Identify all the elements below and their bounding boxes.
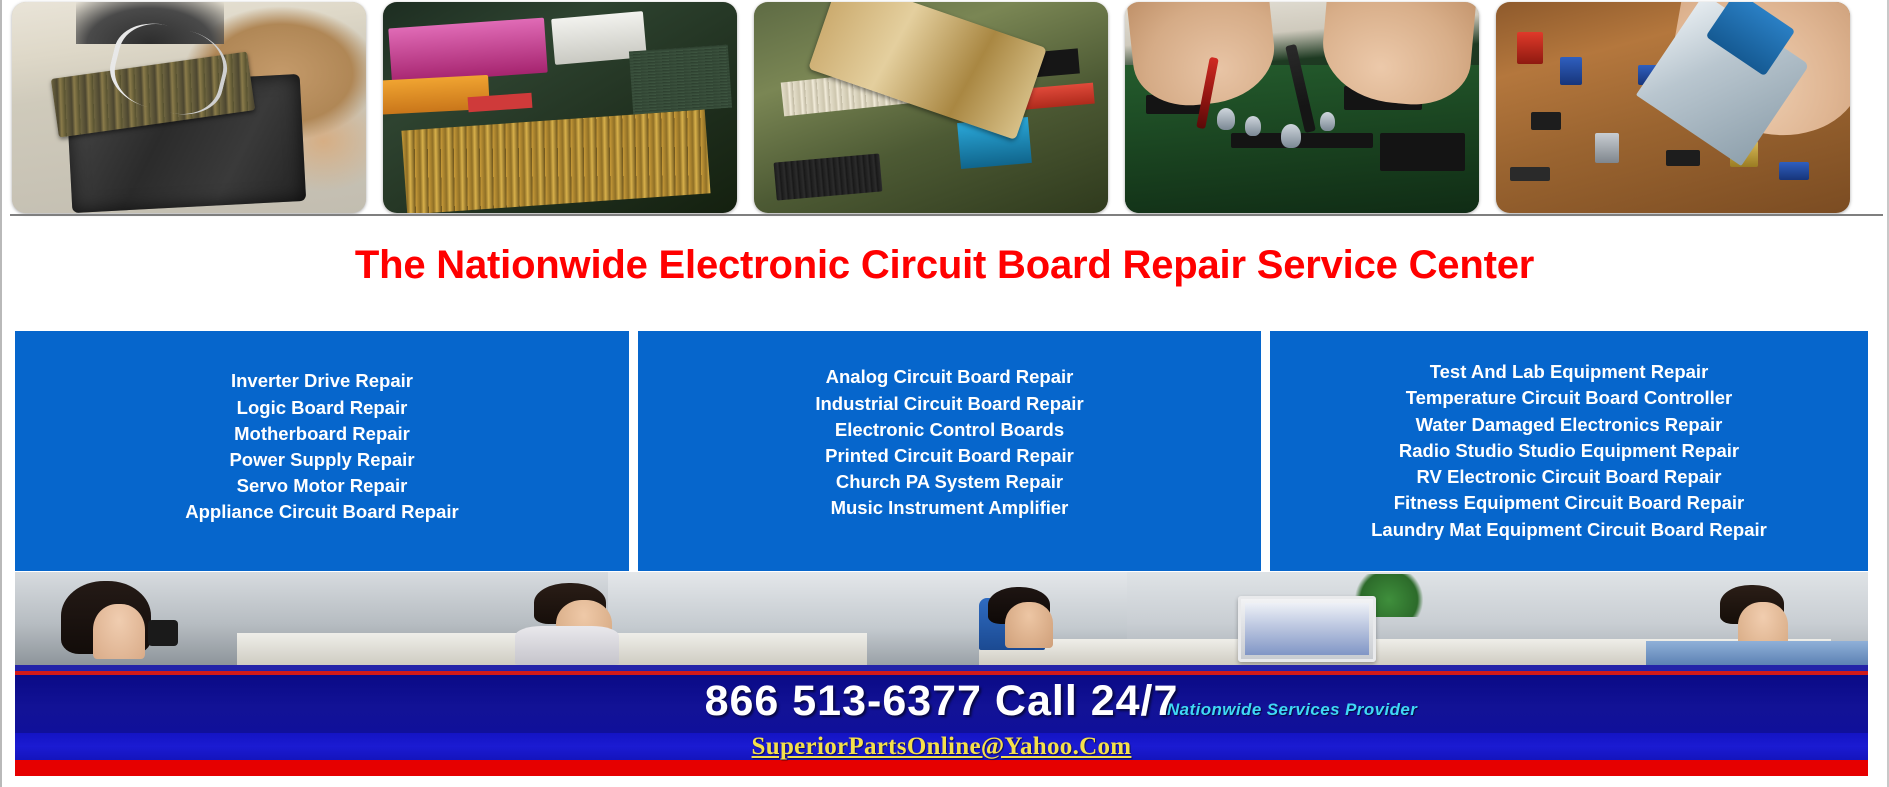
service-item[interactable]: Fitness Equipment Circuit Board Repair <box>1276 490 1862 516</box>
service-item[interactable]: Appliance Circuit Board Repair <box>21 499 623 525</box>
services-panels: Inverter Drive Repair Logic Board Repair… <box>15 331 1868 571</box>
tagline: Nationwide Services Provider <box>1167 700 1417 720</box>
customer-service-office-photo <box>15 572 1868 665</box>
services-column-1: Inverter Drive Repair Logic Board Repair… <box>15 331 629 571</box>
services-column-3: Test And Lab Equipment Repair Temperatur… <box>1270 331 1868 571</box>
banner-bottom-red-bar <box>15 760 1868 776</box>
service-item[interactable]: Inverter Drive Repair <box>21 368 623 394</box>
service-item[interactable]: Radio Studio Studio Equipment Repair <box>1276 438 1862 464</box>
page-title: The Nationwide Electronic Circuit Board … <box>2 243 1887 288</box>
photo-strip <box>2 2 1889 217</box>
multimeter-probes-photo <box>1125 2 1479 213</box>
service-item[interactable]: Test And Lab Equipment Repair <box>1276 359 1862 385</box>
service-item[interactable]: Industrial Circuit Board Repair <box>644 391 1255 417</box>
service-item[interactable]: RV Electronic Circuit Board Repair <box>1276 464 1862 490</box>
service-item[interactable]: Temperature Circuit Board Controller <box>1276 385 1862 411</box>
motherboard-slots-photo <box>383 2 737 213</box>
services-column-2: Analog Circuit Board Repair Industrial C… <box>638 331 1261 571</box>
service-item[interactable]: Music Instrument Amplifier <box>644 495 1255 521</box>
pliers-components-photo <box>1496 2 1850 213</box>
phone-number[interactable]: 866 513-6377 Call 24/7 <box>15 677 1868 726</box>
contact-banner: 866 513-6377 Call 24/7 Nationwide Servic… <box>15 665 1868 776</box>
service-item[interactable]: Laundry Mat Equipment Circuit Board Repa… <box>1276 517 1862 543</box>
service-item[interactable]: Power Supply Repair <box>21 447 623 473</box>
page-root: The Nationwide Electronic Circuit Board … <box>0 0 1889 787</box>
email-address[interactable]: SuperiorPartsOnline@Yahoo.Com <box>15 733 1868 761</box>
service-item[interactable]: Printed Circuit Board Repair <box>644 443 1255 469</box>
service-item[interactable]: Analog Circuit Board Repair <box>644 364 1255 390</box>
service-item[interactable]: Logic Board Repair <box>21 395 623 421</box>
service-item[interactable]: Water Damaged Electronics Repair <box>1276 412 1862 438</box>
circuit-board-repair-jig-photo <box>12 2 366 213</box>
service-item[interactable]: Servo Motor Repair <box>21 473 623 499</box>
service-item[interactable]: Motherboard Repair <box>21 421 623 447</box>
soldering-iron-photo <box>754 2 1108 213</box>
service-item[interactable]: Church PA System Repair <box>644 469 1255 495</box>
service-item[interactable]: Electronic Control Boards <box>644 417 1255 443</box>
